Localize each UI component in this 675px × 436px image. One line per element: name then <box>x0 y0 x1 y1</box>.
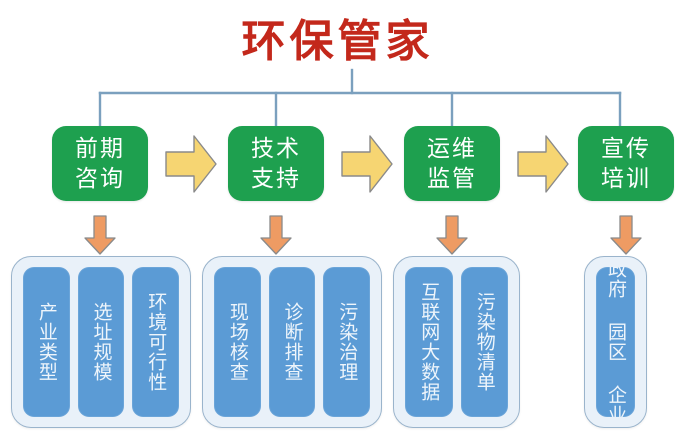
stage-box-pre-consultation[interactable]: 前期 咨询 <box>52 126 148 201</box>
arrow-right-icon <box>516 132 570 196</box>
stage-label-line2: 支持 <box>251 164 301 194</box>
group-item-pill[interactable]: 互联网大数据 <box>405 267 453 417</box>
group-item-pill[interactable]: 污染物清单 <box>461 267 509 417</box>
diagram-canvas: 环保管家 前期 咨询 技术 支持 运维 监管 宣传 培训 <box>0 0 675 436</box>
group-publicity-training-items: 政府 园区 企业 <box>584 256 647 428</box>
group-item-pill[interactable]: 污染治理 <box>323 267 370 417</box>
stage-label-line1: 前期 <box>75 134 125 164</box>
page-title: 环保管家 <box>0 14 675 70</box>
group-item-pill[interactable]: 产业类型 <box>23 267 70 417</box>
stage-box-technical-support[interactable]: 技术 支持 <box>228 126 324 201</box>
stage-label-line2: 咨询 <box>75 164 125 194</box>
arrow-right-icon <box>340 132 394 196</box>
group-ops-supervision-items: 互联网大数据 污染物清单 <box>393 256 520 428</box>
stage-label-line1: 运维 <box>427 134 477 164</box>
group-item-pill[interactable]: 现场核查 <box>214 267 261 417</box>
stage-label-line1: 技术 <box>251 134 301 164</box>
arrow-down-icon <box>609 214 643 256</box>
stage-label-line2: 培训 <box>601 164 651 194</box>
group-item-pill[interactable]: 诊断排查 <box>269 267 316 417</box>
arrow-down-icon <box>435 214 469 256</box>
group-item-pill[interactable]: 环境可行性 <box>132 267 179 417</box>
stage-box-publicity-training[interactable]: 宣传 培训 <box>578 126 674 201</box>
arrow-right-icon <box>164 132 218 196</box>
arrow-down-icon <box>83 214 117 256</box>
stage-box-ops-supervision[interactable]: 运维 监管 <box>404 126 500 201</box>
stage-label-line2: 监管 <box>427 164 477 194</box>
stage-label-line1: 宣传 <box>601 134 651 164</box>
group-item-pill[interactable]: 政府 园区 企业 <box>596 267 635 417</box>
arrow-down-icon <box>259 214 293 256</box>
group-technical-support-items: 现场核查 诊断排查 污染治理 <box>202 256 382 428</box>
group-pre-consultation-items: 产业类型 选址规模 环境可行性 <box>11 256 191 428</box>
group-item-pill[interactable]: 选址规模 <box>78 267 125 417</box>
